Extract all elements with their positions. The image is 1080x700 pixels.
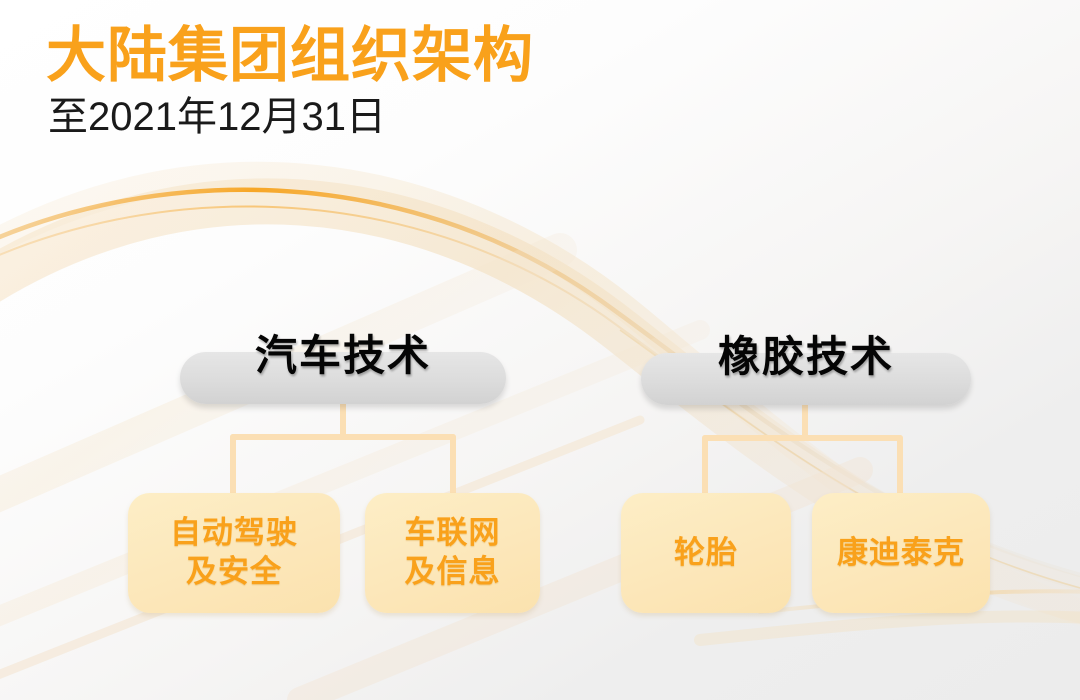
division-pill-automotive[interactable]: 汽车技术 (180, 352, 506, 404)
unit-label-connectivity-information: 车联网 及信息 (405, 514, 501, 592)
unit-box-contitech[interactable]: 康迪泰克 (812, 493, 990, 613)
division-pill-rubber[interactable]: 橡胶技术 (641, 353, 971, 405)
unit-label-tires: 轮胎 (674, 534, 738, 573)
division-label-automotive: 汽车技术 (180, 322, 506, 383)
page-subtitle: 至2021年12月31日 (48, 93, 534, 141)
unit-box-tires[interactable]: 轮胎 (621, 493, 791, 613)
unit-label-contitech: 康迪泰克 (837, 534, 965, 573)
title-block: 大陆集团组织架构 至2021年12月31日 (46, 22, 534, 141)
unit-label-autonomous-safety: 自动驾驶 及安全 (170, 514, 298, 592)
slide-canvas: 大陆集团组织架构 至2021年12月31日 汽车技术 自动驾驶 (0, 0, 1080, 700)
division-label-rubber: 橡胶技术 (641, 323, 971, 384)
unit-box-connectivity-information[interactable]: 车联网 及信息 (365, 493, 540, 613)
unit-box-autonomous-safety[interactable]: 自动驾驶 及安全 (128, 493, 340, 613)
page-title: 大陆集团组织架构 (46, 22, 534, 89)
